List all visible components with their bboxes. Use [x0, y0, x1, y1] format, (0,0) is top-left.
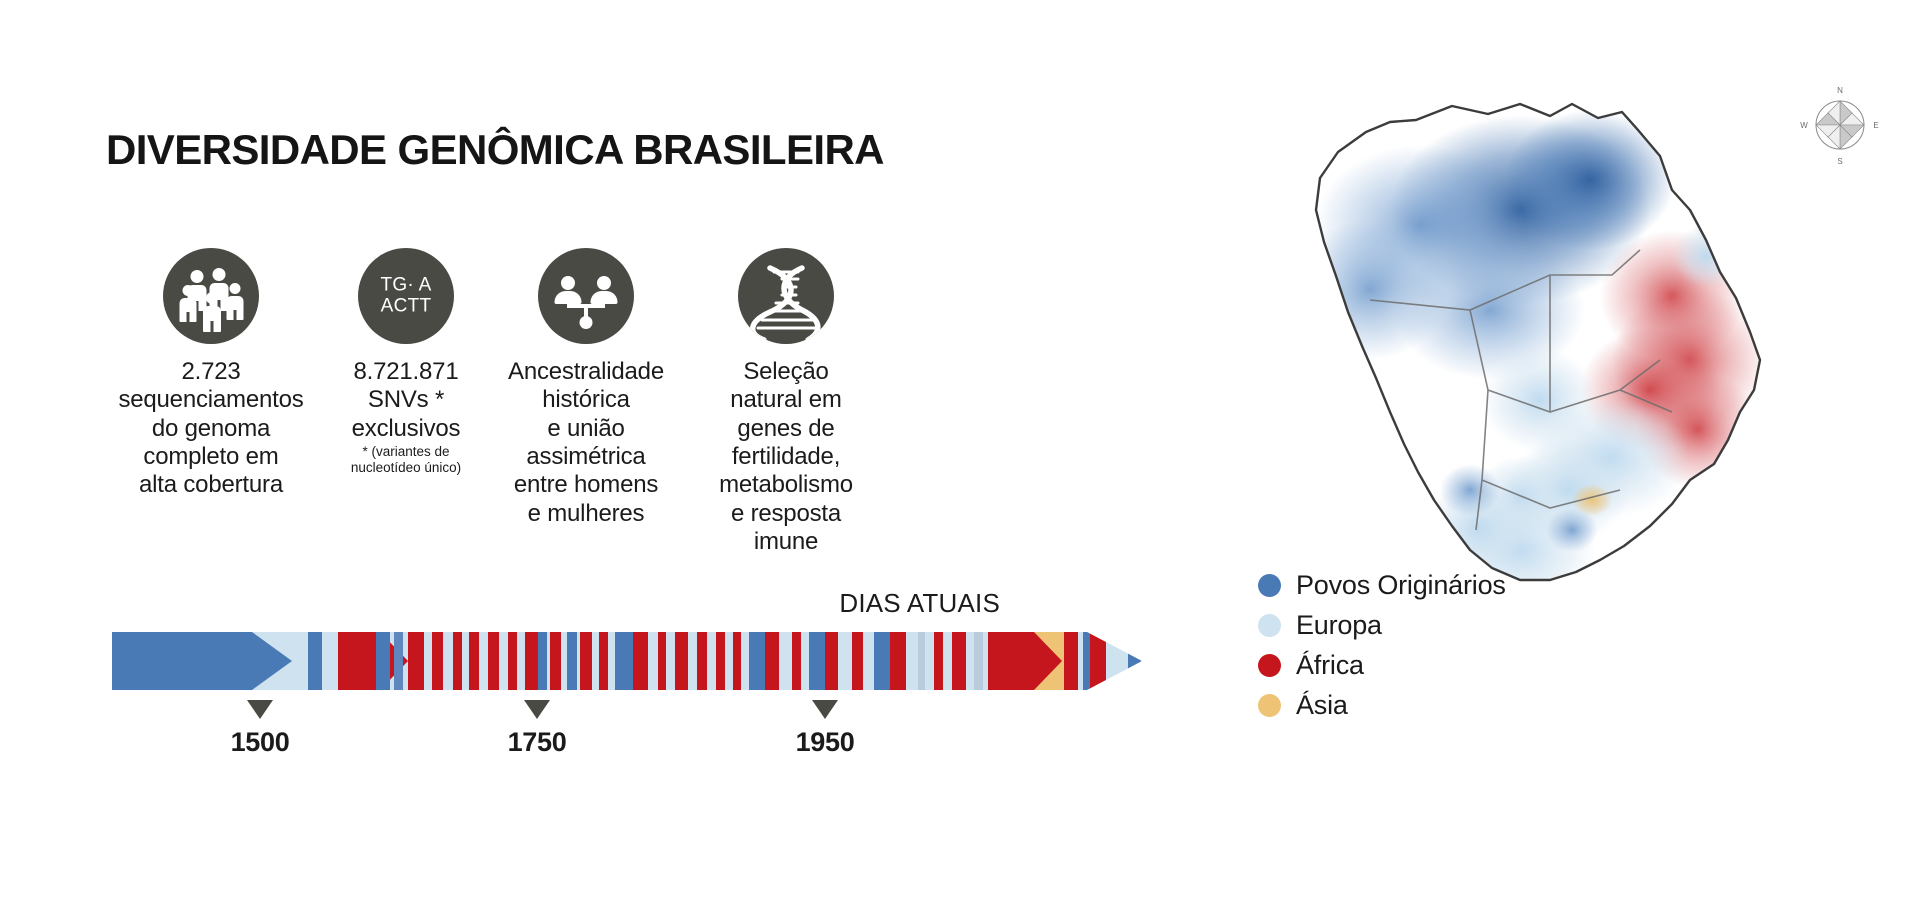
stat-column-selecao: Seleção natural em genes de fertilidade,… [686, 248, 886, 556]
legend-item-asia[interactable]: Ásia [1258, 685, 1506, 725]
compass-north-label: N [1837, 86, 1843, 95]
timeline-year: 1500 [200, 727, 320, 758]
triangle-marker-icon [524, 700, 550, 719]
triangle-marker-icon [247, 700, 273, 719]
compass-east-label: E [1873, 121, 1878, 130]
compass-west-label: W [1800, 121, 1808, 130]
legend-color-swatch [1258, 614, 1281, 637]
dna-letters-icon: TG· A ACTT [358, 248, 454, 344]
timeline-marker-1750: 1750 [477, 700, 597, 758]
stat-caption: Seleção natural em genes de fertilidade,… [686, 358, 886, 556]
legend-item-europa[interactable]: Europa [1258, 605, 1506, 645]
legend-label: África [1296, 650, 1364, 681]
stat-column-sequenciamentos: 2.723 sequenciamentos do genoma completo… [96, 248, 326, 500]
compass-rose-icon: N S E W [1795, 80, 1885, 170]
stat-caption: Ancestralidade histórica e união assimét… [486, 358, 686, 528]
timeline-marker-1500: 1500 [200, 700, 320, 758]
stat-caption: 2.723 sequenciamentos do genoma completo… [96, 358, 326, 500]
legend-color-swatch [1258, 574, 1281, 597]
stat-column-snvs: TG· A ACTT 8.721.871 SNVs * exclusivos *… [326, 248, 486, 476]
stats-columns: 2.723 sequenciamentos do genoma completo… [96, 248, 956, 578]
legend-color-swatch [1258, 654, 1281, 677]
stat-footnote: * (variantes de nucleotídeo único) [326, 444, 486, 476]
timeline-year: 1750 [477, 727, 597, 758]
dna-helix-icon [738, 248, 834, 344]
timeline-marker-1950: 1950 [765, 700, 885, 758]
legend-label: Povos Originários [1296, 570, 1506, 601]
legend-label: Ásia [1296, 690, 1348, 721]
timeline-year: 1950 [765, 727, 885, 758]
infographic-root: DIVERSIDADE GENÔMICA BRASILEIRA [0, 0, 1920, 903]
triangle-marker-icon [812, 700, 838, 719]
dna-letters-text: TG· A ACTT [358, 275, 454, 318]
map-legend: Povos Originários Europa África Ásia [1258, 565, 1506, 725]
legend-item-africa[interactable]: África [1258, 645, 1506, 685]
stat-caption: 8.721.871 SNVs * exclusivos [326, 358, 486, 443]
legend-label: Europa [1296, 610, 1382, 641]
people-group-icon [163, 248, 259, 344]
compass-south-label: S [1837, 157, 1842, 166]
stat-column-ancestralidade: Ancestralidade histórica e união assimét… [486, 248, 686, 528]
legend-item-povos-originarios[interactable]: Povos Originários [1258, 565, 1506, 605]
page-title: DIVERSIDADE GENÔMICA BRASILEIRA [106, 126, 884, 174]
ancestry-timeline-bar [112, 632, 1142, 690]
family-tree-icon [538, 248, 634, 344]
timeline-present-label: DIAS ATUAIS [839, 588, 1000, 619]
legend-color-swatch [1258, 694, 1281, 717]
